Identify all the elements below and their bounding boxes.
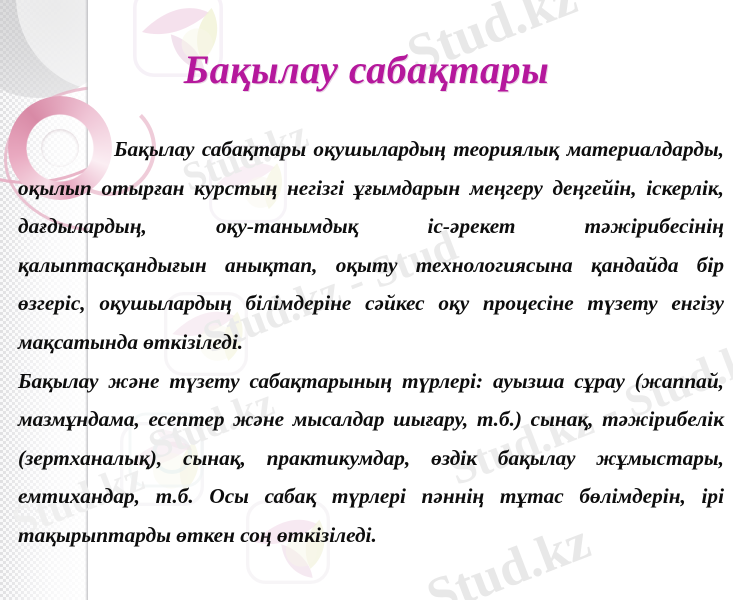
slide-content: Бақылау сабақтары Бақылау сабақтары оқуш…: [0, 0, 733, 600]
presentation-slide: Stud.kz Stud.kz Stud.kz - Stud Stud.kz S…: [0, 0, 733, 600]
slide-title: Бақылау сабақтары: [0, 46, 733, 93]
slide-body: Бақылау сабақтары оқушылардың теориялық …: [18, 130, 724, 555]
body-paragraph: Бақылау және түзету сабақтарының түрлері…: [18, 362, 724, 555]
body-paragraph: Бақылау сабақтары оқушылардың теориялық …: [18, 130, 724, 362]
